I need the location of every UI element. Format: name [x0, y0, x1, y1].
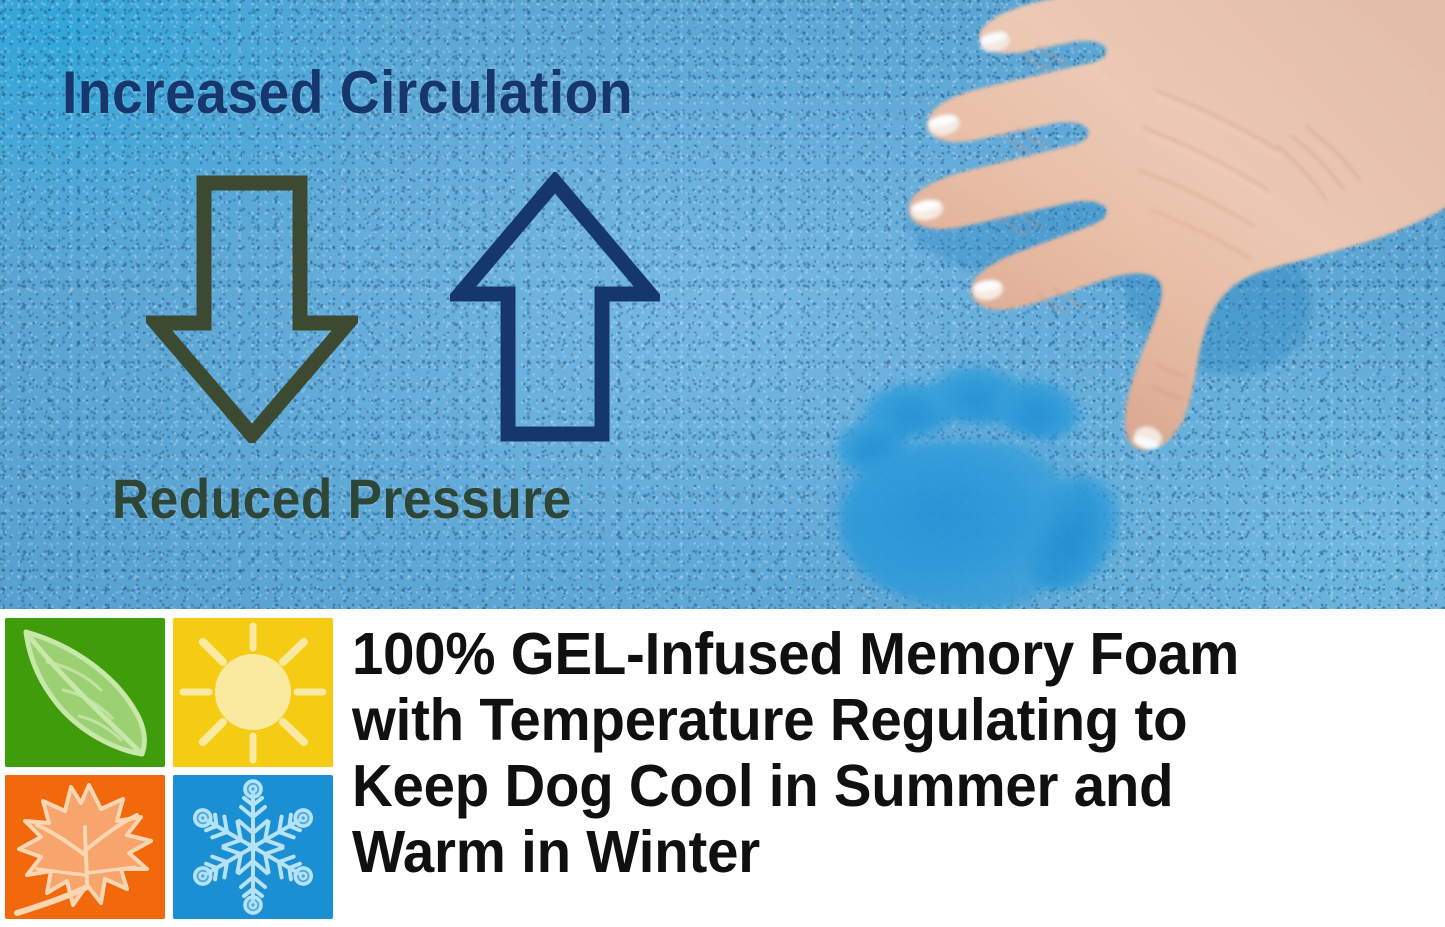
- hand-pressing-foam: [826, 0, 1445, 464]
- sun-icon: [173, 618, 333, 767]
- handprint-thumb: [1007, 459, 1138, 606]
- handprint-finger: [860, 377, 957, 442]
- handprint-impression: [833, 322, 1163, 607]
- season-tile-winter: [173, 775, 333, 919]
- handprint-finger: [928, 364, 1027, 427]
- headline-line-2: with Temperature Regulating to: [352, 687, 1393, 753]
- handprint-rim: [833, 414, 1091, 609]
- gel-foam-photo: Increased Circulation Reduced Pressure: [0, 0, 1445, 609]
- reduced-pressure-label: Reduced Pressure: [112, 466, 572, 531]
- maple-leaf-icon: [5, 775, 165, 919]
- handprint-finger: [829, 409, 914, 479]
- up-arrow-icon: [450, 172, 660, 442]
- feature-text-panel: 100% GEL-Infused Memory Foam with Temper…: [0, 609, 1445, 927]
- season-tile-autumn: [5, 775, 165, 919]
- season-icon-grid: [5, 618, 333, 918]
- handprint-palm: [841, 440, 1076, 608]
- headline-line-1: 100% GEL-Infused Memory Foam: [352, 621, 1393, 687]
- snowflake-icon: [173, 775, 333, 919]
- season-tile-summer: [173, 618, 333, 767]
- headline-line-4: Warm in Winter: [352, 819, 1393, 885]
- handprint-finger: [988, 371, 1086, 446]
- down-arrow-icon: [146, 175, 358, 443]
- product-feature-image: Increased Circulation Reduced Pressure: [0, 0, 1445, 927]
- headline-line-3: Keep Dog Cool in Summer and: [352, 753, 1393, 819]
- season-tile-spring: [5, 618, 165, 767]
- leaf-icon: [5, 618, 165, 767]
- feature-headline: 100% GEL-Infused Memory Foam with Temper…: [352, 621, 1393, 885]
- increased-circulation-label: Increased Circulation: [62, 58, 633, 127]
